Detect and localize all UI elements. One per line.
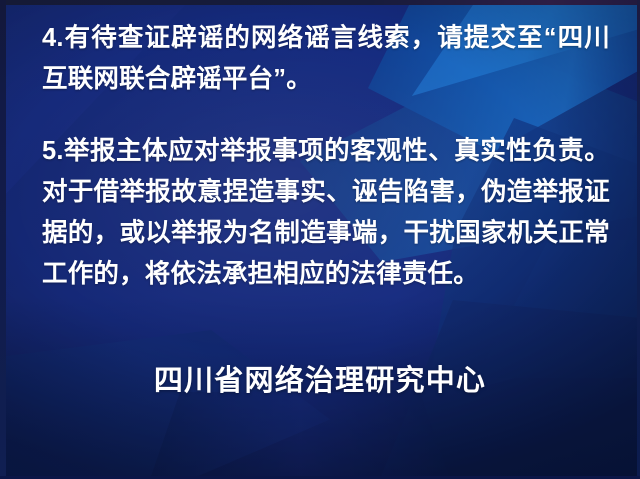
background-facet-bottom-center <box>150 392 450 479</box>
body-paragraph-5: 5.举报主体应对举报事项的客观性、真实性负责。对于借举报故意捏造事实、诬告陷害，… <box>42 131 610 295</box>
footer-block: 四川省网络治理研究中心 <box>0 359 640 403</box>
frame-band-left <box>0 0 6 479</box>
body-text-block: 4.有待查证辟谣的网络谣言线索，请提交至“四川互联网联合辟谣平台”。 5.举报主… <box>42 18 610 295</box>
body-paragraph-4: 4.有待查证辟谣的网络谣言线索，请提交至“四川互联网联合辟谣平台”。 <box>42 18 610 100</box>
frame-band-top <box>0 0 640 5</box>
organization-name: 四川省网络治理研究中心 <box>154 359 486 403</box>
slide-canvas: 4.有待查证辟谣的网络谣言线索，请提交至“四川互联网联合辟谣平台”。 5.举报主… <box>0 0 640 479</box>
